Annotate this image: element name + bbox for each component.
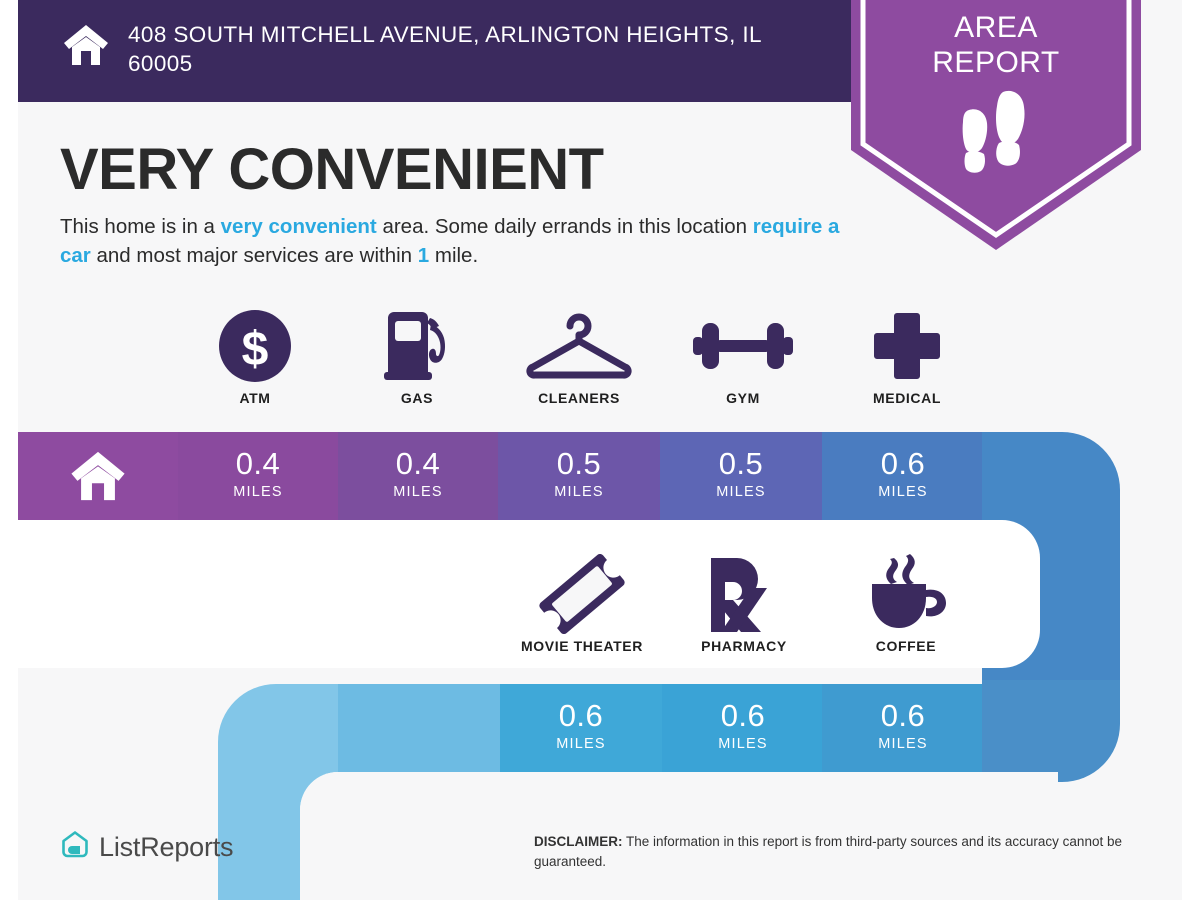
dumbbell-icon (693, 304, 793, 388)
row2-segments (338, 684, 982, 772)
home-marker-icon (18, 432, 178, 520)
service-label: GYM (726, 390, 760, 406)
service-atm: $ ATM (175, 304, 335, 424)
right-margin-rail (1182, 0, 1200, 900)
services-row-2: MOVIE THEATER PHARMACY (500, 552, 1000, 672)
rx-icon (705, 552, 783, 636)
service-cleaners: CLEANERS (499, 304, 659, 424)
service-pharmacy: PHARMACY (664, 552, 824, 672)
disclaimer: DISCLAIMER: The information in this repo… (534, 832, 1134, 871)
svg-text:$: $ (242, 323, 269, 376)
service-label: MOVIE THEATER (521, 638, 643, 654)
services-row-1: $ ATM GAS (175, 304, 1000, 424)
service-label: ATM (239, 390, 270, 406)
service-coffee: COFFEE (826, 552, 986, 672)
service-gas: GAS (337, 304, 497, 424)
disclaimer-label: DISCLAIMER: (534, 834, 623, 849)
hanger-icon (525, 304, 633, 388)
right-connector (982, 680, 1120, 782)
coffee-icon (864, 552, 948, 636)
service-movie-theater: MOVIE THEATER (502, 552, 662, 672)
area-report-infographic: 408 SOUTH MITCHELL AVENUE, ARLINGTON HEI… (0, 0, 1200, 900)
left-margin-rail (0, 0, 18, 900)
service-label: GAS (401, 390, 433, 406)
area-report-badge: AREA REPORT (851, 0, 1141, 250)
listreports-house-icon (60, 830, 90, 865)
listreports-logo[interactable]: ListReports (60, 830, 233, 865)
service-label: CLEANERS (538, 390, 620, 406)
atm-dollar-icon: $ (218, 304, 292, 388)
disclaimer-text: The information in this report is from t… (534, 834, 1122, 869)
medical-cross-icon (872, 304, 942, 388)
card-bottom-round (300, 772, 360, 900)
service-medical: MEDICAL (827, 304, 987, 424)
service-label: COFFEE (876, 638, 936, 654)
service-label: MEDICAL (873, 390, 941, 406)
service-label: PHARMACY (701, 638, 787, 654)
ticket-icon (539, 552, 625, 636)
service-gym: GYM (663, 304, 823, 424)
listreports-wordmark: ListReports (99, 832, 233, 863)
gas-pump-icon (382, 304, 452, 388)
